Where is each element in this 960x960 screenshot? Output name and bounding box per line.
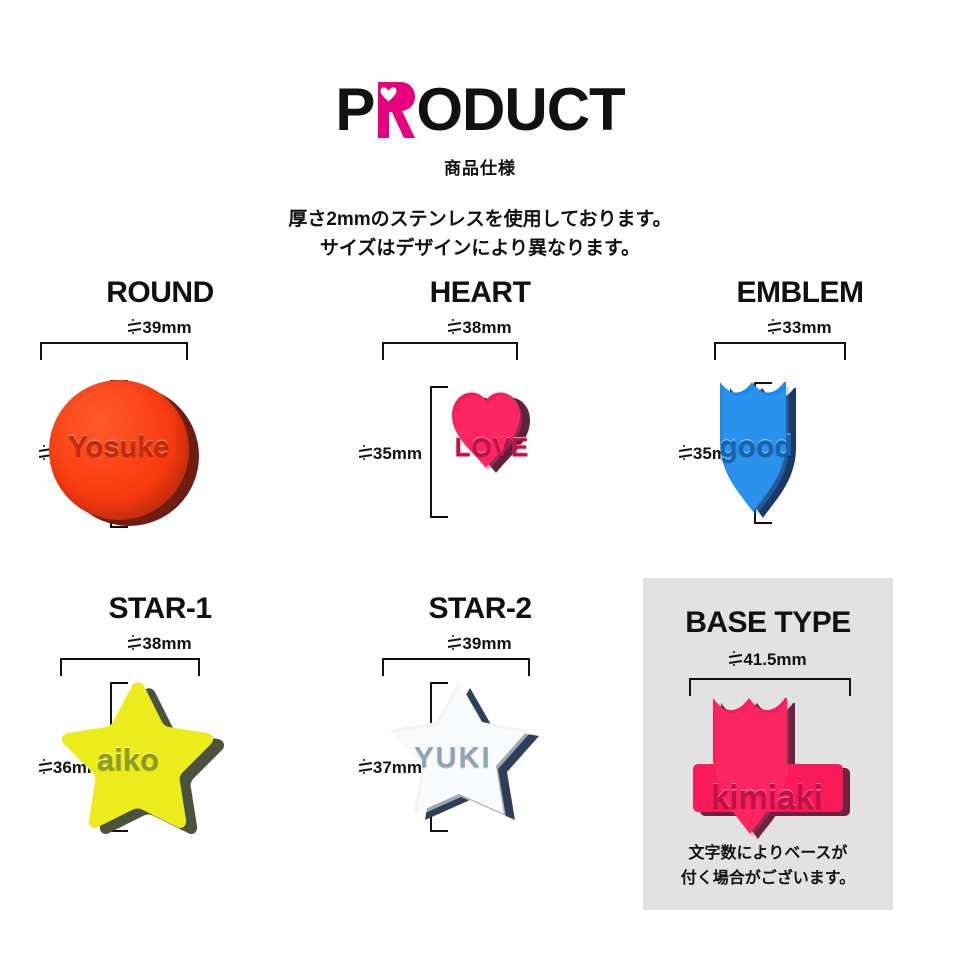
product-image-emblem: good [640, 276, 960, 576]
lead-line-1: 厚さ2mmのステンレスを使用しております。 [0, 205, 960, 234]
lead-line-2: サイズはデザインにより異なります。 [0, 234, 960, 263]
base-type-note: 文字数によりベースが 付く場合がございます。 [643, 841, 893, 892]
title-part-p: P [335, 76, 374, 143]
page-title: P ODUCT [0, 80, 960, 140]
product-image-round: Yosuke [0, 276, 320, 576]
product-row-1: ROUND 39mm 39mm Yosuke HEART 38mm [0, 276, 960, 576]
page-header: P ODUCT 商品仕様 厚さ2mmのステンレスを使用しております。 サイズはデ… [0, 0, 960, 264]
product-image-star-2: YUKI [320, 576, 640, 916]
page-subtitle: 商品仕様 [0, 154, 960, 179]
title-letter-r-heart-icon [374, 80, 416, 140]
product-card-round: ROUND 39mm 39mm Yosuke [0, 276, 320, 576]
product-image-star-1: aiko [0, 576, 320, 916]
product-card-heart: HEART 38mm 35mm LOVE [320, 276, 640, 576]
title-part-oduct: ODUCT [416, 76, 624, 143]
base-type-note-line-1: 文字数によりベースが [643, 841, 893, 867]
product-card-star-2: STAR-2 39mm 37mm YUKI [320, 576, 640, 916]
product-image-heart: LOVE [320, 276, 640, 576]
product-card-star-1: STAR-1 38mm 36mm aiko [0, 576, 320, 916]
product-card-emblem: EMBLEM 33mm 35mm good [640, 276, 960, 576]
round-disc-face [49, 380, 189, 520]
base-type-note-line-2: 付く場合がございます。 [643, 866, 893, 892]
base-type-panel: BASE TYPE 41.5mm kimiaki 文字数によりベースが 付く場合… [643, 578, 893, 910]
